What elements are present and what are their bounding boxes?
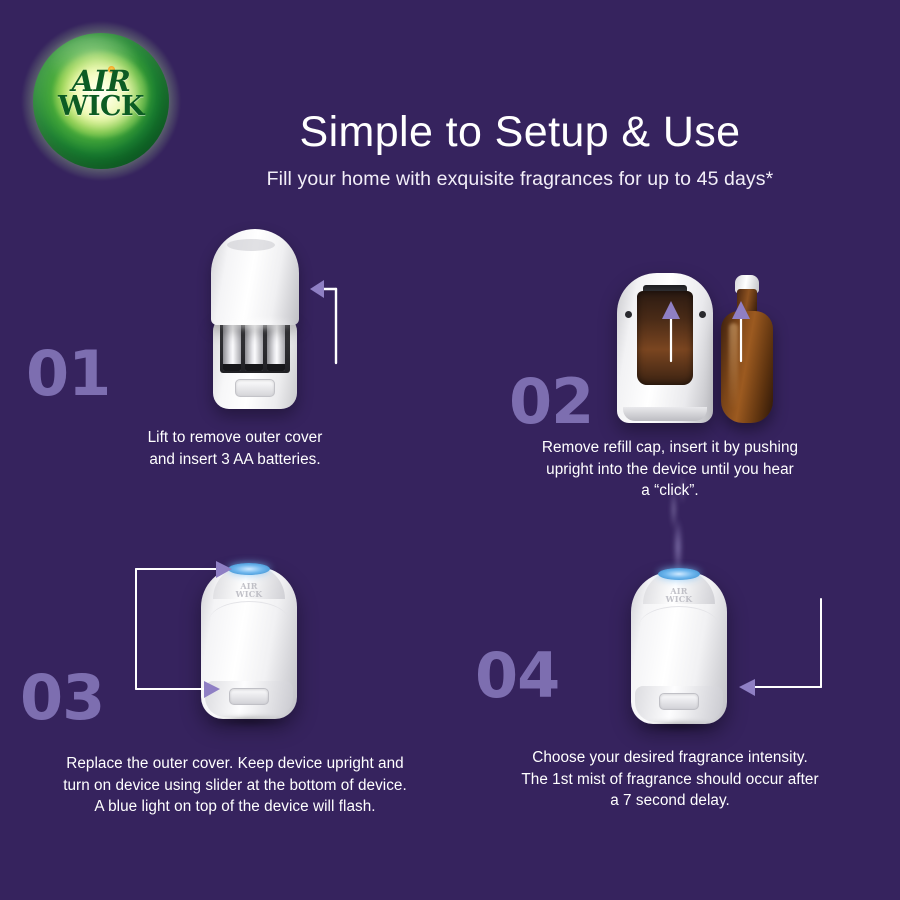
step-03: 03 AIR WICK bbox=[20, 545, 450, 845]
caption-line: Lift to remove outer cover bbox=[20, 427, 450, 449]
bracket-top-to-slider-icon bbox=[120, 561, 250, 706]
up-arrow-lift-cover-icon bbox=[308, 275, 354, 367]
step-03-illustration: 03 AIR WICK bbox=[20, 545, 450, 745]
step-01-illustration: 01 bbox=[20, 215, 450, 420]
device-emitting-mist: AIR WICK bbox=[625, 560, 733, 740]
caption-line: Replace the outer cover. Keep device upr… bbox=[20, 753, 450, 775]
device-shadow bbox=[209, 715, 289, 727]
step-01: 01 bbox=[20, 215, 450, 515]
step-04: 04 AIR WICK bbox=[455, 485, 885, 845]
embossed-logo: AIR WICK bbox=[625, 588, 733, 603]
caption-line: Choose your desired fragrance intensity. bbox=[455, 747, 885, 769]
device-cover-lifted-with-batteries bbox=[205, 225, 305, 415]
device-foot bbox=[623, 407, 707, 421]
up-arrow-insert-refill-right-icon bbox=[732, 301, 750, 363]
step-01-caption: Lift to remove outer cover and insert 3 … bbox=[20, 427, 450, 470]
blue-light-indicator bbox=[658, 568, 700, 580]
step-02-illustration: 02 bbox=[455, 265, 885, 430]
device-base-with-refill-bottle bbox=[603, 267, 788, 432]
device-shadow bbox=[639, 720, 719, 732]
step-04-illustration: 04 AIR WICK bbox=[455, 485, 885, 740]
step-03-caption: Replace the outer cover. Keep device upr… bbox=[20, 753, 450, 818]
cover-top-vent bbox=[227, 239, 275, 251]
step-04-caption: Choose your desired fragrance intensity.… bbox=[455, 747, 885, 812]
up-arrow-insert-refill-left-icon bbox=[662, 301, 680, 363]
step-01-number: 01 bbox=[26, 343, 110, 405]
outer-cover bbox=[211, 229, 299, 325]
page-title: Simple to Setup & Use bbox=[150, 108, 890, 156]
caption-line: and insert 3 AA batteries. bbox=[20, 449, 450, 471]
step-04-number: 04 bbox=[475, 645, 559, 707]
header: Simple to Setup & Use Fill your home wit… bbox=[150, 108, 890, 191]
embossed-wick: WICK bbox=[666, 594, 693, 604]
caption-line: turn on device using slider at the botto… bbox=[20, 775, 450, 797]
device-side-pin bbox=[699, 311, 706, 318]
infographic-page: AIR WICK Simple to Setup & Use Fill your… bbox=[0, 0, 900, 900]
device-slider bbox=[235, 379, 275, 397]
step-03-number: 03 bbox=[20, 667, 104, 729]
caption-line: A blue light on top of the device will f… bbox=[20, 796, 450, 818]
caption-line: Remove refill cap, insert it by pushing bbox=[455, 437, 885, 459]
bracket-pointing-to-slider-icon bbox=[725, 593, 845, 703]
steps-grid: 01 bbox=[0, 215, 900, 875]
caption-line: The 1st mist of fragrance should occur a… bbox=[455, 769, 885, 791]
intensity-slider bbox=[659, 693, 699, 710]
step-02-number: 02 bbox=[509, 371, 593, 433]
page-subtitle: Fill your home with exquisite fragrances… bbox=[150, 168, 890, 191]
caption-line: a 7 second delay. bbox=[455, 790, 885, 812]
cover-separation-glow bbox=[213, 317, 299, 331]
device-side-pin bbox=[625, 311, 632, 318]
